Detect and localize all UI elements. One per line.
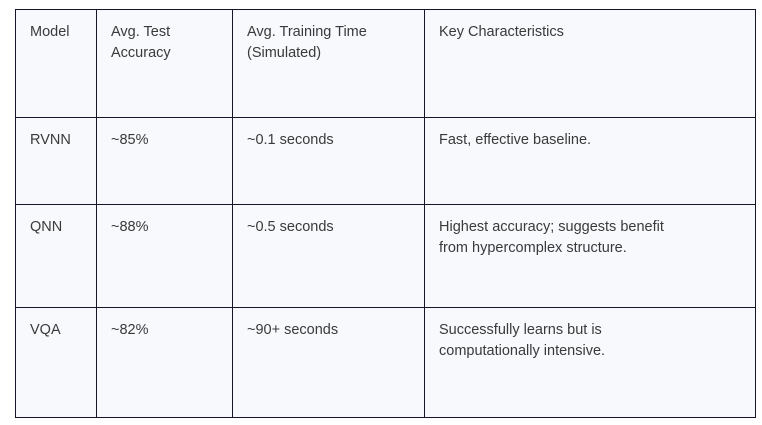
table-row: RVNN ~85% ~0.1 seconds Fast, effective b… [16,118,756,205]
cell-training-time: ~0.5 seconds [233,205,425,308]
cell-model: VQA [16,308,97,418]
column-header-training-time-label: Avg. Training Time (Simulated) [247,22,424,64]
cell-accuracy-value: ~88% [111,217,232,238]
cell-accuracy: ~85% [97,118,233,205]
column-header-accuracy: Avg. Test Accuracy [97,10,233,118]
table-header: Model Avg. Test Accuracy Avg. Training T… [16,10,756,118]
cell-characteristics: Highest accuracy; suggests benefit from … [425,205,756,308]
cell-model-value: RVNN [30,130,96,151]
table-row: VQA ~82% ~90+ seconds Successfully learn… [16,308,756,418]
cell-training-time-value: ~0.1 seconds [247,130,424,151]
cell-training-time: ~90+ seconds [233,308,425,418]
column-header-model: Model [16,10,97,118]
cell-model-value: QNN [30,217,96,238]
cell-characteristics: Successfully learns but is computational… [425,308,756,418]
column-header-accuracy-label: Avg. Test Accuracy [111,22,232,64]
column-header-model-label: Model [30,22,96,43]
cell-training-time-value: ~0.5 seconds [247,217,424,238]
table-container: Model Avg. Test Accuracy Avg. Training T… [15,9,756,418]
cell-model: QNN [16,205,97,308]
model-comparison-table: Model Avg. Test Accuracy Avg. Training T… [15,9,756,418]
cell-training-time: ~0.1 seconds [233,118,425,205]
cell-model: RVNN [16,118,97,205]
cell-characteristics-value: Highest accuracy; suggests benefit from … [439,217,755,259]
cell-characteristics-value: Fast, effective baseline. [439,130,755,151]
column-header-characteristics-label: Key Characteristics [439,22,755,43]
column-header-characteristics: Key Characteristics [425,10,756,118]
cell-accuracy: ~88% [97,205,233,308]
cell-accuracy: ~82% [97,308,233,418]
cell-model-value: VQA [30,320,96,341]
cell-accuracy-value: ~85% [111,130,232,151]
cell-characteristics: Fast, effective baseline. [425,118,756,205]
cell-accuracy-value: ~82% [111,320,232,341]
table-header-row: Model Avg. Test Accuracy Avg. Training T… [16,10,756,118]
table-row: QNN ~88% ~0.5 seconds Highest accuracy; … [16,205,756,308]
cell-training-time-value: ~90+ seconds [247,320,424,341]
table-body: RVNN ~85% ~0.1 seconds Fast, effective b… [16,118,756,418]
column-header-training-time: Avg. Training Time (Simulated) [233,10,425,118]
cell-characteristics-value: Successfully learns but is computational… [439,320,755,362]
page-root: Model Avg. Test Accuracy Avg. Training T… [0,0,762,425]
